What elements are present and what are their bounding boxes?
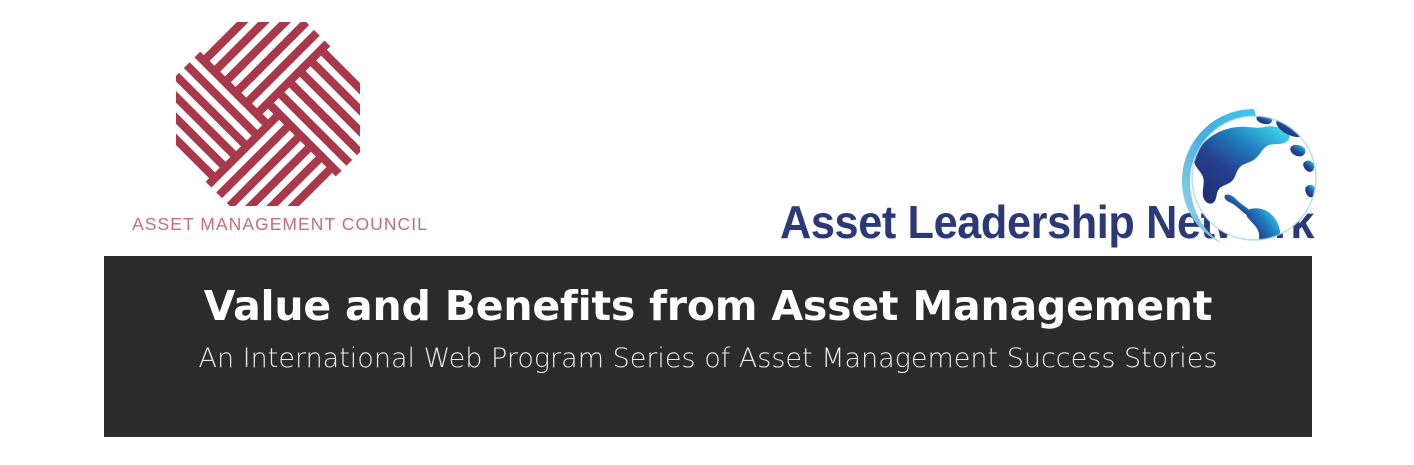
globe-icon <box>1168 105 1320 247</box>
asset-leadership-network-logo: Asset Leadership Network <box>780 100 1320 250</box>
page-title: Value and Benefits from Asset Management <box>204 282 1212 330</box>
asset-management-council-logo: ASSET MANAGEMENT COUNCIL <box>120 22 440 244</box>
amc-diamond-pinwheel-icon <box>176 22 360 206</box>
amc-wordmark-label: ASSET MANAGEMENT COUNCIL <box>120 214 440 235</box>
page-subtitle: An International Web Program Series of A… <box>199 341 1218 376</box>
title-banner: Value and Benefits from Asset Management… <box>104 256 1312 437</box>
